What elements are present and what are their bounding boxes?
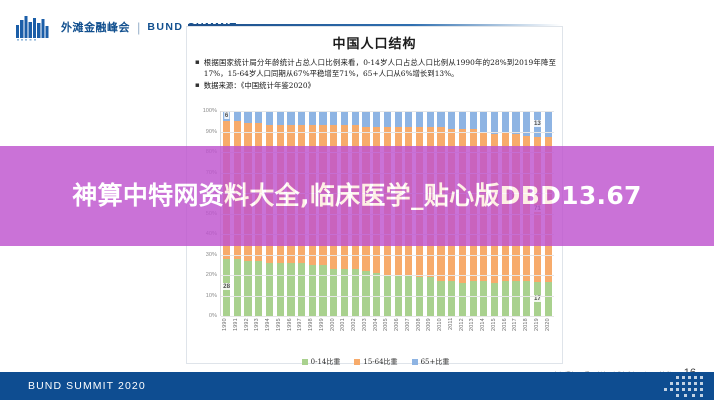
- legend-label: 65+比重: [421, 357, 450, 367]
- bar-segment-65+[interactable]: [319, 111, 326, 125]
- legend-item[interactable]: 15-64比重: [354, 357, 397, 367]
- grid-line: [221, 255, 554, 256]
- x-axis-tick-label: 1995: [276, 318, 283, 352]
- x-axis-tick-label: 2001: [340, 318, 347, 352]
- x-axis-tick-label: 2017: [512, 318, 519, 352]
- bar-segment-65+[interactable]: [437, 111, 444, 127]
- x-axis-tick-label: 2016: [502, 318, 509, 352]
- x-axis-tick-label: 2009: [426, 318, 433, 352]
- bullet-item: ▪ 数据来源：《中国统计年鉴2020》: [195, 80, 556, 91]
- x-axis-tick-label: 2015: [491, 318, 498, 352]
- x-axis-tick-label: 2006: [394, 318, 401, 352]
- bar-segment-65+[interactable]: [362, 111, 369, 127]
- legend-swatch-15-64: [354, 359, 360, 365]
- bar-segment-0-14[interactable]: [523, 281, 530, 316]
- x-axis-tick-label: 2013: [469, 318, 476, 352]
- grid-line: [221, 132, 554, 133]
- bar-segment-65+[interactable]: [502, 111, 509, 132]
- bar-segment-0-14[interactable]: [502, 281, 509, 316]
- bar-segment-0-14[interactable]: [277, 263, 284, 316]
- bar-segment-0-14[interactable]: [427, 277, 434, 316]
- bullet-text: 数据来源：《中国统计年鉴2020》: [204, 80, 556, 91]
- x-axis-tick-label: 1992: [244, 318, 251, 352]
- bullet-marker-icon: ▪: [195, 80, 200, 91]
- page-title: 中国人口结构: [187, 33, 562, 52]
- bar-segment-0-14[interactable]: [287, 263, 294, 316]
- legend-swatch-0-14: [302, 359, 308, 365]
- footer-dot-pattern-icon: [614, 372, 706, 400]
- bar-data-label: 6: [224, 112, 229, 119]
- x-axis-tick-label: 1994: [265, 318, 272, 352]
- x-axis-tick-label: 1996: [287, 318, 294, 352]
- bullet-marker-icon: ▪: [195, 57, 200, 79]
- bar-segment-65+[interactable]: [491, 111, 498, 134]
- watermark-text: 神算中特网资料大全,临床医学_贴心版DBD13.67: [37, 181, 677, 212]
- x-axis-tick-label: 2018: [523, 318, 530, 352]
- bar-segment-65+[interactable]: [470, 111, 477, 129]
- x-axis-tick-label: 1998: [308, 318, 315, 352]
- x-axis-tick-label: 2019: [534, 318, 541, 352]
- bar-segment-65+[interactable]: [480, 111, 487, 132]
- bar-segment-65+[interactable]: [512, 111, 519, 134]
- y-axis-tick-label: 30%: [206, 252, 217, 258]
- bar-segment-0-14[interactable]: [545, 282, 552, 317]
- bar-segment-0-14[interactable]: [244, 261, 251, 316]
- bar-segment-65+[interactable]: [545, 111, 552, 137]
- bar-segment-0-14[interactable]: 28: [223, 259, 230, 316]
- bullet-text: 根据国家统计局分年龄统计占总人口比例来看，0-14岁人口占总人口比例从1990年…: [204, 57, 556, 79]
- bar-segment-0-14[interactable]: [491, 283, 498, 316]
- bar-segment-65+[interactable]: [244, 111, 251, 123]
- bar-segment-0-14[interactable]: [437, 281, 444, 316]
- bullet-item: ▪ 根据国家统计局分年龄统计占总人口比例来看，0-14岁人口占总人口比例从199…: [195, 57, 556, 79]
- bar-segment-0-14[interactable]: [255, 261, 262, 316]
- bullet-list: ▪ 根据国家统计局分年龄统计占总人口比例来看，0-14岁人口占总人口比例从199…: [195, 57, 556, 91]
- bar-segment-0-14[interactable]: [480, 281, 487, 316]
- y-axis-tick-label: 20%: [206, 272, 217, 278]
- x-axis-tick-label: 2012: [459, 318, 466, 352]
- bar-segment-65+[interactable]: [448, 111, 455, 129]
- bar-segment-0-14[interactable]: [309, 265, 316, 316]
- x-axis-tick-label: 1997: [297, 318, 304, 352]
- bar-segment-0-14[interactable]: [512, 281, 519, 316]
- bar-data-label: 28: [222, 283, 231, 290]
- x-axis-tick-label: 2008: [416, 318, 423, 352]
- y-axis-tick-label: 90%: [206, 129, 217, 135]
- bar-data-label: 13: [533, 120, 542, 127]
- x-axis-tick-label: 2007: [405, 318, 412, 352]
- bar-segment-65+[interactable]: [255, 111, 262, 123]
- bar-segment-65+[interactable]: [395, 111, 402, 127]
- bar-segment-65+[interactable]: [459, 111, 466, 129]
- bar-segment-65+[interactable]: [298, 111, 305, 125]
- bar-segment-65+[interactable]: [384, 111, 391, 127]
- skyline-logo-icon: [14, 12, 54, 42]
- x-axis-tick-label: 2020: [545, 318, 552, 352]
- bar-segment-0-14[interactable]: [362, 271, 369, 316]
- bar-segment-65+[interactable]: 6: [223, 111, 230, 121]
- bar-segment-0-14[interactable]: [298, 263, 305, 316]
- bar-segment-65+[interactable]: 13: [534, 111, 541, 137]
- x-axis-tick-label: 2014: [480, 318, 487, 352]
- y-axis-tick-label: 10%: [206, 293, 217, 299]
- chart-legend: 0-14比重15-64比重65+比重: [195, 357, 556, 367]
- bar-segment-65+[interactable]: [266, 111, 273, 125]
- x-axis-tick-label: 1993: [254, 318, 261, 352]
- bar-segment-65+[interactable]: [405, 111, 412, 127]
- bar-segment-0-14[interactable]: [416, 277, 423, 316]
- x-axis-tick-label: 2005: [383, 318, 390, 352]
- x-axis-tick-label: 1991: [233, 318, 240, 352]
- grid-line: [221, 111, 554, 112]
- y-axis-tick-label: 0%: [209, 313, 217, 319]
- brand-name-cn: 外滩金融峰会: [61, 19, 130, 35]
- legend-label: 0-14比重: [311, 357, 341, 367]
- grid-line: [221, 275, 554, 276]
- bar-segment-0-14[interactable]: [470, 281, 477, 316]
- bar-segment-0-14[interactable]: 17: [534, 282, 541, 317]
- x-axis-tick-label: 2011: [448, 318, 455, 352]
- bar-segment-0-14[interactable]: [234, 259, 241, 316]
- watermark-overlay: 神算中特网资料大全,临床医学_贴心版DBD13.67: [0, 146, 714, 246]
- x-axis-tick-label: 2004: [373, 318, 380, 352]
- bar-segment-65+[interactable]: [341, 111, 348, 125]
- grid-line: [221, 316, 554, 317]
- grid-line: [221, 296, 554, 297]
- x-axis-tick-label: 2010: [437, 318, 444, 352]
- bar-segment-65+[interactable]: [373, 111, 380, 127]
- bar-segment-0-14[interactable]: [459, 283, 466, 316]
- bar-segment-0-14[interactable]: [319, 265, 326, 316]
- legend-swatch-65+: [412, 359, 418, 365]
- x-axis-tick-label: 2000: [330, 318, 337, 352]
- footer-brand-text: BUND SUMMIT 2020: [28, 380, 146, 392]
- bar-segment-65+[interactable]: [427, 111, 434, 127]
- y-axis-tick-label: 100%: [203, 108, 217, 114]
- bar-segment-65+[interactable]: [277, 111, 284, 125]
- bar-segment-65+[interactable]: [234, 111, 241, 121]
- bar-segment-0-14[interactable]: [373, 273, 380, 316]
- legend-label: 15-64比重: [363, 357, 397, 367]
- x-axis-tick-label: 2002: [351, 318, 358, 352]
- bar-segment-0-14[interactable]: [266, 263, 273, 316]
- bar-segment-65+[interactable]: [309, 111, 316, 125]
- bar-segment-0-14[interactable]: [448, 281, 455, 316]
- brand-divider: |: [137, 20, 140, 35]
- bar-segment-65+[interactable]: [287, 111, 294, 125]
- bar-segment-65+[interactable]: [416, 111, 423, 127]
- legend-item[interactable]: 65+比重: [412, 357, 450, 367]
- legend-item[interactable]: 0-14比重: [302, 357, 341, 367]
- x-axis-labels: 1990199119921993199419951996199719981999…: [220, 318, 554, 352]
- bar-segment-65+[interactable]: [352, 111, 359, 125]
- x-axis-tick-label: 1990: [222, 318, 229, 352]
- x-axis-tick-label: 2003: [362, 318, 369, 352]
- bar-segment-65+[interactable]: [330, 111, 337, 125]
- x-axis-tick-label: 1999: [319, 318, 326, 352]
- footer-bar: BUND SUMMIT 2020: [0, 372, 714, 400]
